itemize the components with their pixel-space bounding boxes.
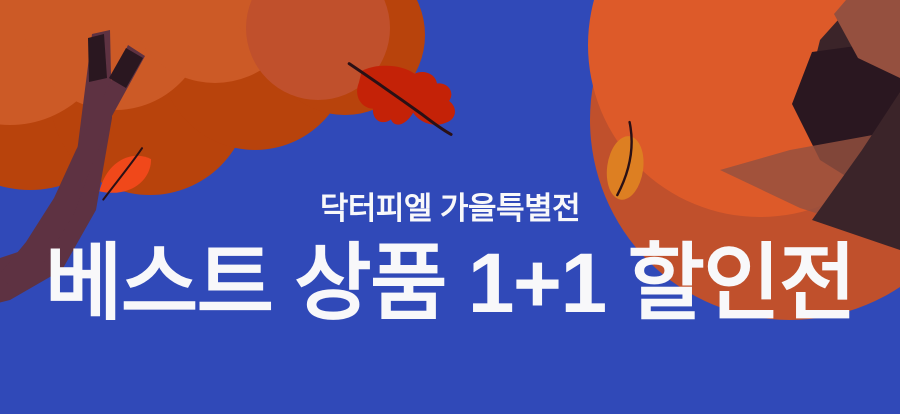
promo-banner[interactable]: 닥터피엘 가을특별전 베스트 상품 1+1 할인전 — [0, 0, 900, 414]
autumn-decorative-artwork — [0, 0, 900, 414]
